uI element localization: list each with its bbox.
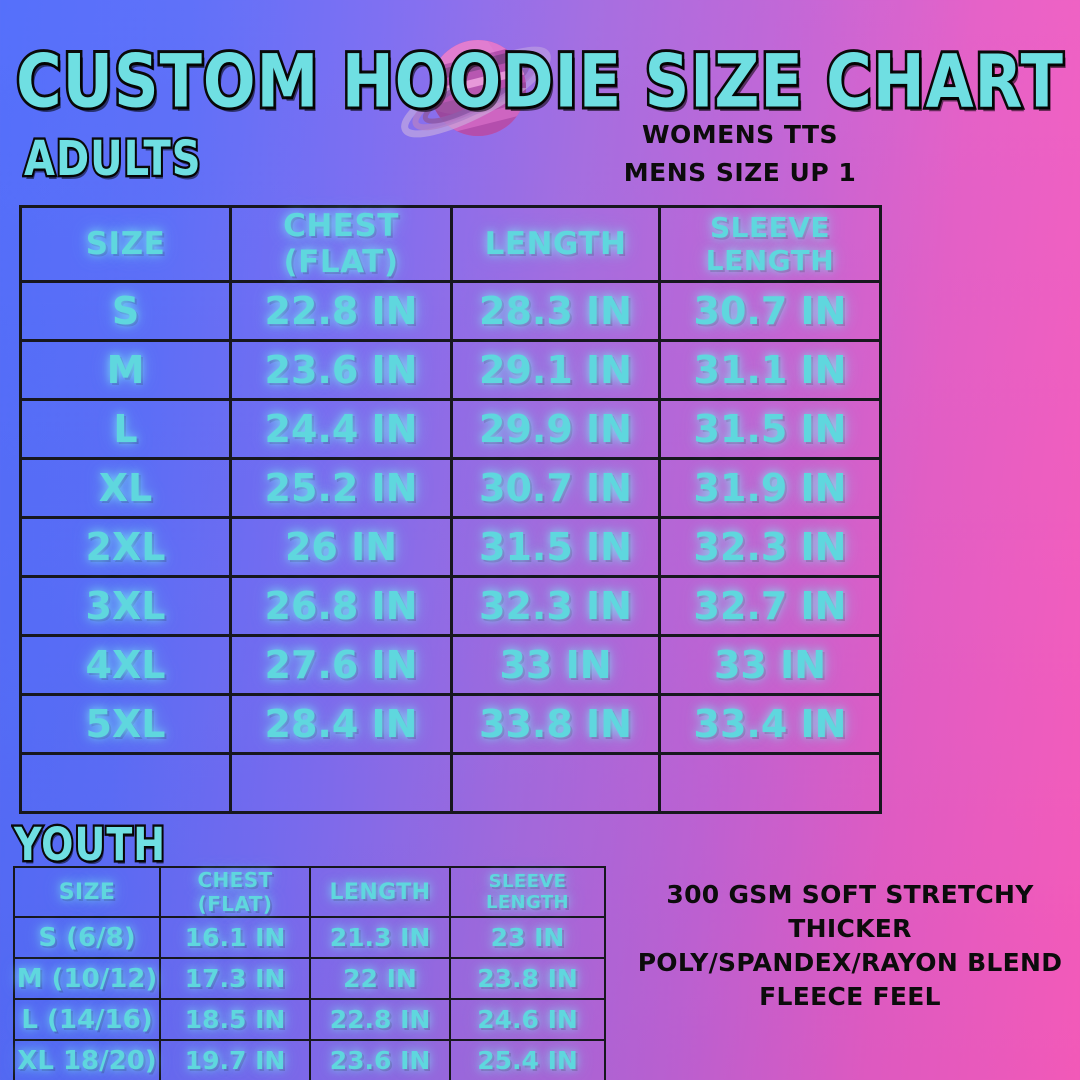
cell-size: [21, 754, 231, 813]
cell-size: M (10/12): [14, 958, 160, 999]
fit-note: WOMENS TTS MENS SIZE UP 1: [560, 116, 920, 192]
cell-length: 28.3 IN: [452, 282, 660, 341]
column-header-chest: CHEST (FLAT): [231, 207, 452, 282]
table-row: M (10/12) 17.3 IN 22 IN 23.8 IN: [14, 958, 605, 999]
table-row: S 22.8 IN 28.3 IN 30.7 IN: [21, 282, 881, 341]
cell-sleeve: 31.5 IN: [660, 400, 881, 459]
cell-sleeve: 32.7 IN: [660, 577, 881, 636]
fabric-note-line-4: FLEECE FEEL: [624, 980, 1076, 1014]
fit-note-line-2: MENS SIZE UP 1: [560, 154, 920, 192]
table-header-row: SIZE CHEST (FLAT) LENGTH SLEEVE LENGTH: [14, 867, 605, 917]
column-header-length: LENGTH: [310, 867, 450, 917]
cell-sleeve: 25.4 IN: [450, 1040, 605, 1080]
cell-size: 2XL: [21, 518, 231, 577]
cell-size: L: [21, 400, 231, 459]
cell-sleeve: 33 IN: [660, 636, 881, 695]
table-row: M 23.6 IN 29.1 IN 31.1 IN: [21, 341, 881, 400]
column-header-sleeve-length: SLEEVE LENGTH: [660, 207, 881, 282]
table-header-row: SIZE CHEST (FLAT) LENGTH SLEEVE LENGTH: [21, 207, 881, 282]
page-title: CUSTOM HOODIE SIZE CHART: [0, 38, 1080, 124]
table-row: 2XL 26 IN 31.5 IN 32.3 IN: [21, 518, 881, 577]
fabric-note-line-2: THICKER: [624, 912, 1076, 946]
table-row: XL 18/20) 19.7 IN 23.6 IN 25.4 IN: [14, 1040, 605, 1080]
cell-length: 29.1 IN: [452, 341, 660, 400]
cell-size: S: [21, 282, 231, 341]
cell-size: 3XL: [21, 577, 231, 636]
column-header-size: SIZE: [21, 207, 231, 282]
cell-chest: 26 IN: [231, 518, 452, 577]
table-row: L 24.4 IN 29.9 IN 31.5 IN: [21, 400, 881, 459]
cell-sleeve: 31.1 IN: [660, 341, 881, 400]
cell-length: 32.3 IN: [452, 577, 660, 636]
cell-chest: 16.1 IN: [160, 917, 310, 958]
table-row: 3XL 26.8 IN 32.3 IN 32.7 IN: [21, 577, 881, 636]
adults-size-table: SIZE CHEST (FLAT) LENGTH SLEEVE LENGTH S…: [19, 205, 882, 814]
column-header-length: LENGTH: [452, 207, 660, 282]
cell-chest: 28.4 IN: [231, 695, 452, 754]
cell-chest: 19.7 IN: [160, 1040, 310, 1080]
cell-chest: 17.3 IN: [160, 958, 310, 999]
table-row: L (14/16) 18.5 IN 22.8 IN 24.6 IN: [14, 999, 605, 1040]
cell-sleeve: 33.4 IN: [660, 695, 881, 754]
fabric-note-line-1: 300 GSM SOFT STRETCHY: [624, 878, 1076, 912]
cell-sleeve: 23.8 IN: [450, 958, 605, 999]
cell-chest: 27.6 IN: [231, 636, 452, 695]
cell-chest: [231, 754, 452, 813]
cell-sleeve: 23 IN: [450, 917, 605, 958]
cell-length: 29.9 IN: [452, 400, 660, 459]
cell-sleeve: 24.6 IN: [450, 999, 605, 1040]
cell-size: XL 18/20): [14, 1040, 160, 1080]
table-row-empty: [21, 754, 881, 813]
cell-size: XL: [21, 459, 231, 518]
cell-chest: 25.2 IN: [231, 459, 452, 518]
adults-section-heading: ADULTS: [24, 132, 202, 187]
column-header-sleeve-length: SLEEVE LENGTH: [450, 867, 605, 917]
cell-length: 33.8 IN: [452, 695, 660, 754]
youth-size-table: SIZE CHEST (FLAT) LENGTH SLEEVE LENGTH S…: [13, 866, 606, 1080]
cell-size: M: [21, 341, 231, 400]
cell-length: 22 IN: [310, 958, 450, 999]
cell-length: [452, 754, 660, 813]
cell-sleeve: 31.9 IN: [660, 459, 881, 518]
cell-length: 33 IN: [452, 636, 660, 695]
table-row: 4XL 27.6 IN 33 IN 33 IN: [21, 636, 881, 695]
cell-length: 21.3 IN: [310, 917, 450, 958]
fabric-note: 300 GSM SOFT STRETCHY THICKER POLY/SPAND…: [624, 878, 1076, 1014]
column-header-size: SIZE: [14, 867, 160, 917]
cell-sleeve: 30.7 IN: [660, 282, 881, 341]
cell-chest: 26.8 IN: [231, 577, 452, 636]
cell-chest: 18.5 IN: [160, 999, 310, 1040]
cell-chest: 22.8 IN: [231, 282, 452, 341]
cell-size: S (6/8): [14, 917, 160, 958]
fit-note-line-1: WOMENS TTS: [560, 116, 920, 154]
cell-chest: 24.4 IN: [231, 400, 452, 459]
fabric-note-line-3: POLY/SPANDEX/RAYON BLEND: [624, 946, 1076, 980]
column-header-chest: CHEST (FLAT): [160, 867, 310, 917]
youth-section-heading: YOUTH: [14, 818, 166, 871]
cell-chest: 23.6 IN: [231, 341, 452, 400]
cell-length: 23.6 IN: [310, 1040, 450, 1080]
table-row: 5XL 28.4 IN 33.8 IN 33.4 IN: [21, 695, 881, 754]
table-row: S (6/8) 16.1 IN 21.3 IN 23 IN: [14, 917, 605, 958]
cell-size: 4XL: [21, 636, 231, 695]
cell-size: 5XL: [21, 695, 231, 754]
cell-size: L (14/16): [14, 999, 160, 1040]
cell-sleeve: 32.3 IN: [660, 518, 881, 577]
cell-sleeve: [660, 754, 881, 813]
cell-length: 31.5 IN: [452, 518, 660, 577]
cell-length: 22.8 IN: [310, 999, 450, 1040]
table-row: XL 25.2 IN 30.7 IN 31.9 IN: [21, 459, 881, 518]
cell-length: 30.7 IN: [452, 459, 660, 518]
